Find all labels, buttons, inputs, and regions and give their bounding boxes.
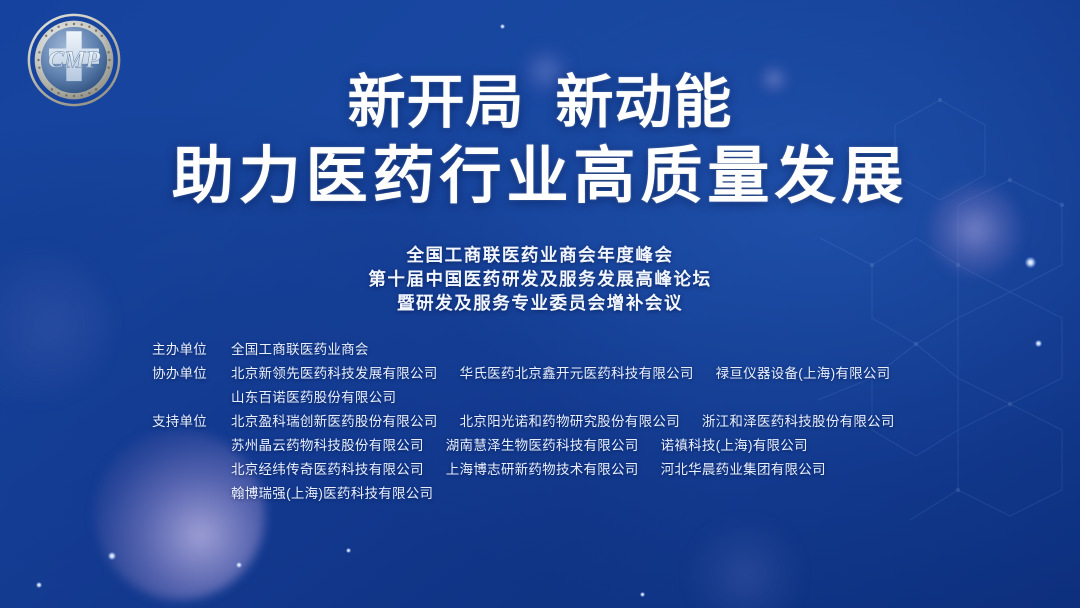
organization-name: 北京盈科瑞创新医药股份有限公司 (231, 410, 438, 434)
bokeh-orb (690, 520, 800, 608)
credit-values: 全国工商联医药业商会 (231, 338, 369, 362)
subtitle-line-1: 全国工商联医药业商会年度峰会 (0, 243, 1080, 267)
credit-line: 山东百诺医药股份有限公司 (231, 386, 890, 410)
organization-name: 湖南慧泽生物医药科技有限公司 (446, 434, 639, 458)
organization-name: 全国工商联医药业商会 (231, 338, 369, 362)
credit-label: 协办单位 (152, 362, 231, 386)
credits-block: 主办单位 全国工商联医药业商会 协办单位 北京新领先医药科技发展有限公司 华氏医… (152, 338, 895, 506)
organization-name: 河北华晨药业集团有限公司 (661, 458, 826, 482)
sparkle-dot (346, 548, 351, 553)
organization-name: 北京经纬传奇医药科技有限公司 (231, 458, 424, 482)
subtitle-line-2: 第十届中国医药研发及服务发展高峰论坛 (0, 267, 1080, 291)
organization-name: 浙江和泽医药科技股份有限公司 (702, 410, 895, 434)
credit-group-co-host: 协办单位 北京新领先医药科技发展有限公司 华氏医药北京鑫开元医药科技有限公司 禄… (152, 362, 895, 410)
credit-line: 苏州晶云药物科技股份有限公司 湖南慧泽生物医药科技有限公司 诺禛科技(上海)有限… (231, 434, 895, 458)
credit-label: 支持单位 (152, 410, 231, 434)
organization-name: 翰博瑞强(上海)医药科技有限公司 (231, 482, 433, 506)
headline-line-2: 助力医药行业高质量发展 (0, 144, 1080, 211)
svg-text:CMP: CMP (48, 48, 100, 74)
sparkle-dot (108, 552, 116, 560)
subtitle-line-3: 暨研发及服务专业委员会增补会议 (0, 291, 1080, 315)
credit-group-supporter: 支持单位 北京盈科瑞创新医药股份有限公司 北京阳光诺和药物研究股份有限公司 浙江… (152, 410, 895, 506)
sparkle-dot (500, 24, 505, 29)
organization-name: 诺禛科技(上海)有限公司 (661, 434, 808, 458)
organization-name: 北京阳光诺和药物研究股份有限公司 (460, 410, 680, 434)
headline-line-1: 新开局 新动能 (0, 74, 1080, 132)
sparkle-dot (36, 582, 42, 588)
credit-line: 北京盈科瑞创新医药股份有限公司 北京阳光诺和药物研究股份有限公司 浙江和泽医药科… (231, 410, 895, 434)
sparkle-dot (1035, 340, 1042, 347)
conference-poster: CMP 新开局 新动能 助力医药行业高质量发展 全国工商联医药业商会年度峰会 第… (0, 0, 1080, 608)
credit-label: 主办单位 (152, 338, 231, 362)
poster-subtitles: 全国工商联医药业商会年度峰会 第十届中国医药研发及服务发展高峰论坛 暨研发及服务… (0, 243, 1080, 315)
organization-name: 禄亘仪器设备(上海)有限公司 (716, 362, 891, 386)
sparkle-dot (640, 592, 645, 597)
credit-group-host: 主办单位 全国工商联医药业商会 (152, 338, 895, 362)
credit-line: 全国工商联医药业商会 (231, 338, 369, 362)
credit-line: 翰博瑞强(上海)医药科技有限公司 (231, 482, 895, 506)
credit-line: 北京经纬传奇医药科技有限公司 上海博志研新药物技术有限公司 河北华晨药业集团有限… (231, 458, 895, 482)
sparkle-dot (236, 562, 242, 568)
organization-name: 山东百诺医药股份有限公司 (231, 386, 396, 410)
organization-name: 上海博志研新药物技术有限公司 (446, 458, 639, 482)
organization-name: 北京新领先医药科技发展有限公司 (231, 362, 438, 386)
poster-headline: 新开局 新动能 助力医药行业高质量发展 (0, 74, 1080, 211)
credit-values: 北京新领先医药科技发展有限公司 华氏医药北京鑫开元医药科技有限公司 禄亘仪器设备… (231, 362, 890, 410)
organization-name: 华氏医药北京鑫开元医药科技有限公司 (460, 362, 694, 386)
organization-name: 苏州晶云药物科技股份有限公司 (231, 434, 424, 458)
credit-values: 北京盈科瑞创新医药股份有限公司 北京阳光诺和药物研究股份有限公司 浙江和泽医药科… (231, 410, 895, 506)
credit-line: 北京新领先医药科技发展有限公司 华氏医药北京鑫开元医药科技有限公司 禄亘仪器设备… (231, 362, 890, 386)
